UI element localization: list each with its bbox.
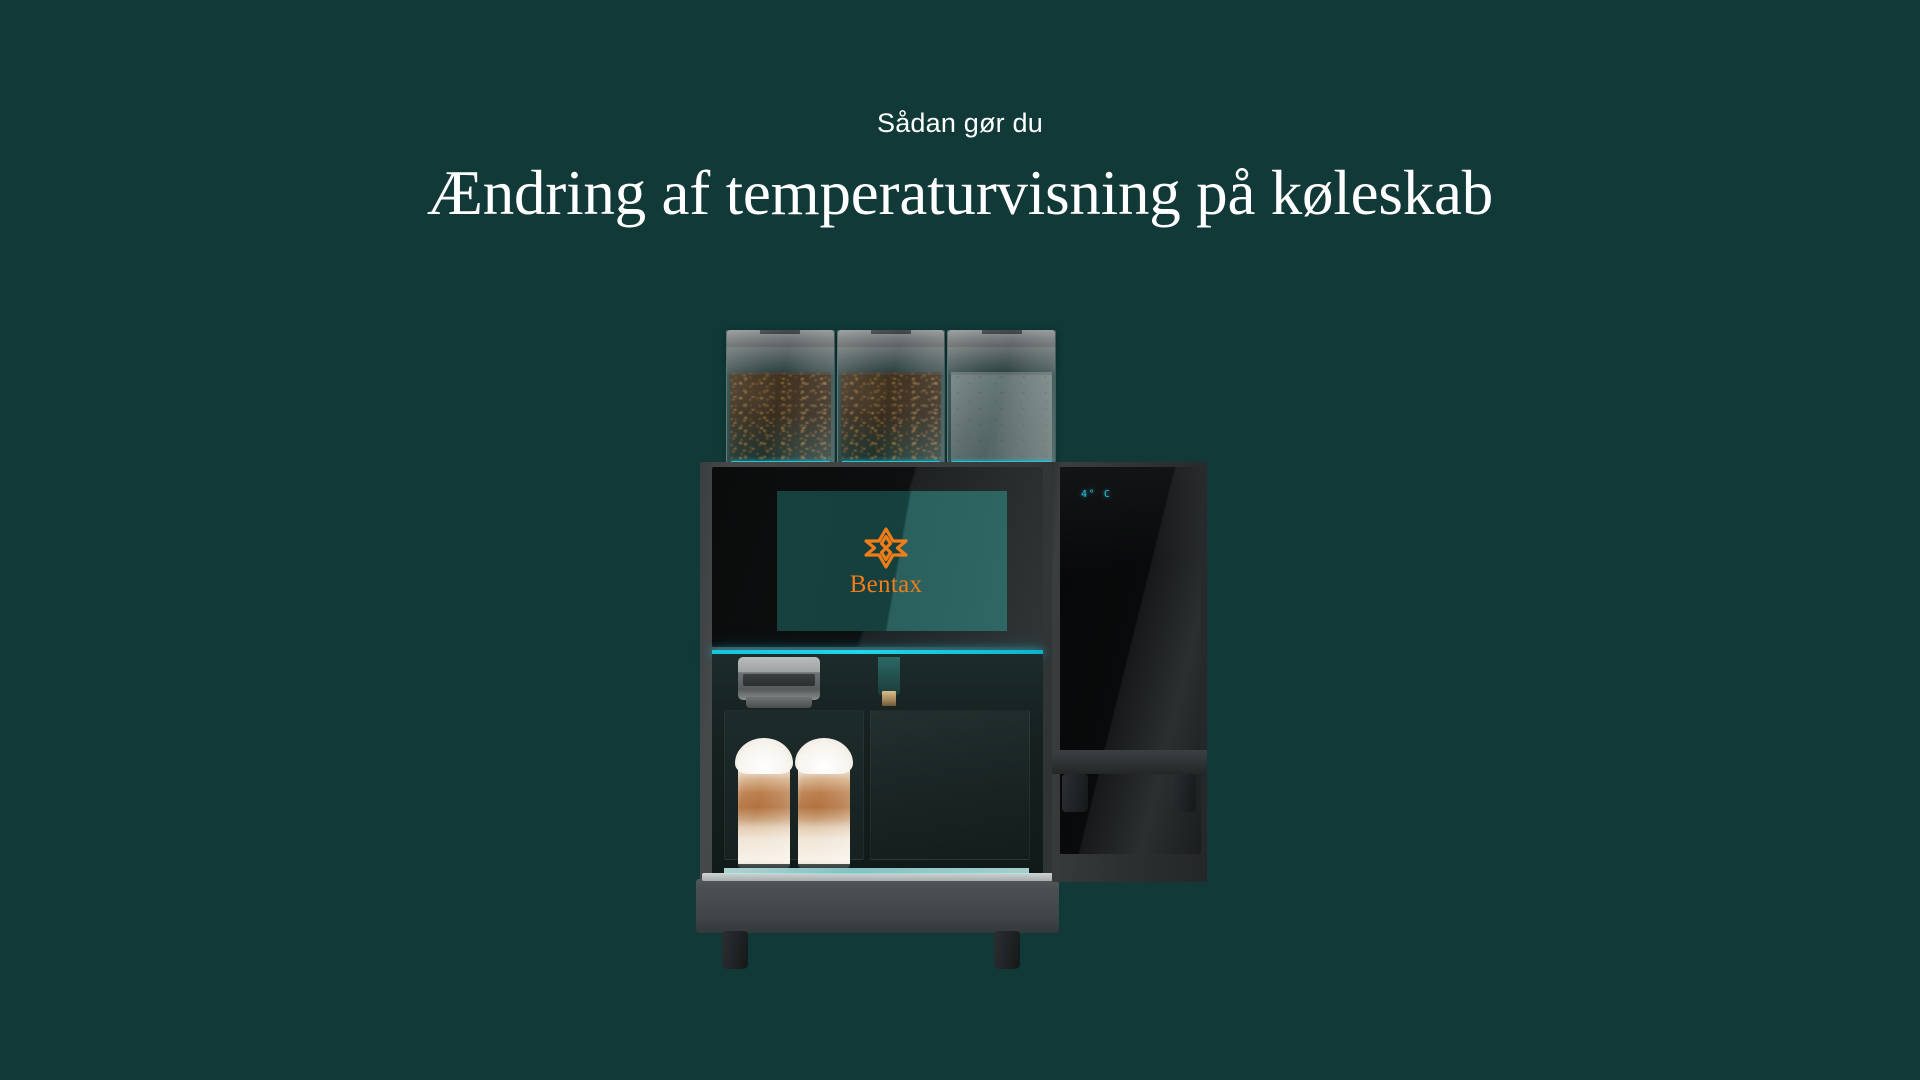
coffee-machine-body: Bentax	[700, 462, 1055, 882]
page-title: Ændring af temperaturvisning på køleskab	[0, 159, 1920, 227]
latte-glass-right	[798, 754, 850, 869]
fridge-temperature-display: 4° C	[1081, 489, 1111, 500]
page-header: Sådan gør du Ændring af temperaturvisnin…	[0, 0, 1920, 227]
glass-reflection	[738, 754, 790, 869]
bean-hopper-left[interactable]	[726, 330, 835, 465]
coffee-beans-fill	[841, 372, 942, 465]
dispensing-cavity	[712, 654, 1043, 877]
fridge-module: 4° C	[1052, 462, 1207, 882]
hopper-lid-tab-icon	[760, 330, 800, 334]
drip-tray-plinth	[696, 879, 1059, 933]
fridge-leg-right	[1170, 774, 1196, 812]
spout-arm	[746, 697, 812, 708]
machine-leg-left	[722, 931, 748, 969]
eyebrow-text: Sådan gør du	[0, 110, 1920, 137]
hopper-inner-shade	[838, 347, 945, 375]
touchscreen-display[interactable]: Bentax	[777, 491, 1007, 631]
brand-logo: Bentax	[850, 526, 923, 597]
bean-hopper-right[interactable]	[947, 330, 1056, 465]
hopper-lid-tab-icon	[982, 330, 1022, 334]
hopper-inner-shade	[727, 347, 834, 375]
bean-hopper-middle[interactable]	[837, 330, 946, 465]
page-root: Sådan gør du Ændring af temperaturvisnin…	[0, 0, 1920, 1080]
brand-wordmark: Bentax	[850, 572, 923, 597]
hopper-inner-shade	[948, 347, 1055, 375]
fridge-leg-left	[1062, 774, 1088, 812]
cavity-back-panel-right	[870, 710, 1030, 860]
coffee-beans-fill	[730, 372, 831, 465]
bean-hopper-group	[726, 330, 1056, 465]
coffee-spout[interactable]	[738, 657, 820, 700]
product-image: Bentax	[700, 330, 1300, 970]
drip-tray-top	[702, 873, 1053, 881]
latte-glass-left	[738, 754, 790, 869]
hot-water-nozzle[interactable]	[878, 657, 900, 695]
six-pointed-star-icon	[863, 526, 909, 570]
drip-tray-grate	[724, 868, 1029, 874]
fridge-base	[1052, 750, 1207, 774]
glass-reflection	[798, 754, 850, 869]
screen-bezel: Bentax	[712, 467, 1043, 647]
machine-leg-right	[994, 931, 1020, 969]
hopper-lid-tab-icon	[871, 330, 911, 334]
empty-hopper-fill	[951, 372, 1052, 465]
